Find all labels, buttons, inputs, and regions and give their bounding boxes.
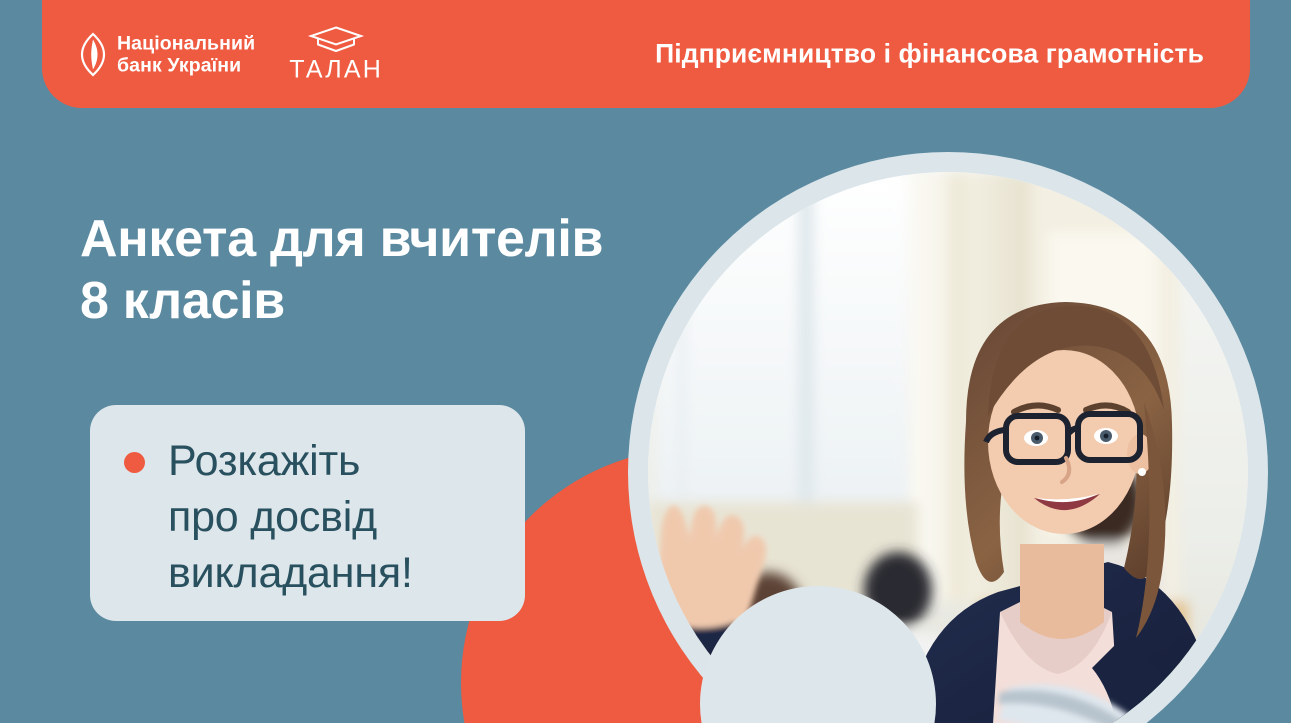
promo-banner: Національний банк України ТАЛАН Підприєм…: [0, 0, 1291, 723]
header-title: Підприємництво і фінансова грамотність: [655, 39, 1204, 70]
nbu-emblem-icon: [80, 32, 106, 76]
callout-text: Розкажіть про досвід викладання!: [168, 433, 413, 601]
callout-card: Розкажіть про досвід викладання!: [90, 405, 525, 621]
talan-logo-text: ТАЛАН: [289, 57, 383, 83]
header-bar: Національний банк України ТАЛАН Підприєм…: [42, 0, 1250, 108]
graduation-cap-icon: [305, 26, 367, 54]
logo-group: Національний банк України ТАЛАН: [80, 26, 383, 83]
page-title: Анкета для вчителів 8 класів: [80, 208, 720, 332]
bullet-point-icon: [124, 452, 145, 473]
national-bank-of-ukraine-logo: Національний банк України: [80, 32, 255, 76]
talan-logo: ТАЛАН: [289, 26, 383, 83]
nbu-logo-text: Національний банк України: [117, 32, 255, 76]
